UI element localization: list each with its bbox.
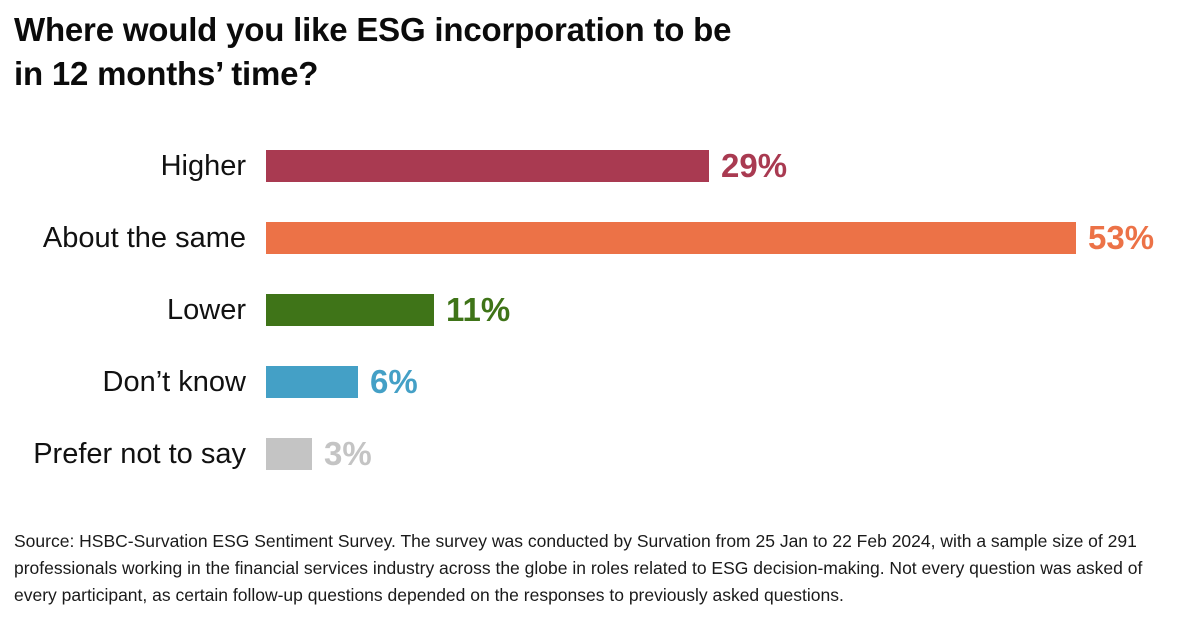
bar-row: Lower11% [0, 287, 1200, 333]
bar-fill [266, 150, 709, 182]
bar-row: About the same53% [0, 215, 1200, 261]
bar-fill [266, 366, 358, 398]
bar-row: Prefer not to say3% [0, 431, 1200, 477]
source-footnote: Source: HSBC-Survation ESG Sentiment Sur… [14, 528, 1174, 609]
bar-row: Don’t know6% [0, 359, 1200, 405]
bar-track: 29% [266, 150, 787, 182]
bar-value-label: 3% [324, 438, 372, 470]
bar-value-label: 53% [1088, 222, 1154, 254]
page-title-line-1: Where would you like ESG incorporation t… [14, 8, 1014, 52]
bar-category-label: Prefer not to say [0, 437, 246, 471]
bar-category-label: Don’t know [0, 365, 246, 399]
bar-fill [266, 222, 1076, 254]
bar-fill [266, 294, 434, 326]
bar-fill [266, 438, 312, 470]
bar-value-label: 29% [721, 150, 787, 182]
bar-track: 53% [266, 222, 1154, 254]
page-title: Where would you like ESG incorporation t… [14, 8, 1014, 96]
bar-value-label: 6% [370, 366, 418, 398]
bar-track: 3% [266, 438, 372, 470]
bar-track: 11% [266, 294, 510, 326]
bar-track: 6% [266, 366, 418, 398]
chart-page: Where would you like ESG incorporation t… [0, 0, 1200, 630]
bar-value-label: 11% [446, 294, 510, 326]
bar-row: Higher29% [0, 143, 1200, 189]
bar-category-label: About the same [0, 221, 246, 255]
bar-chart: Higher29%About the same53%Lower11%Don’t … [0, 128, 1200, 488]
page-title-line-2: in 12 months’ time? [14, 52, 1014, 96]
bar-category-label: Lower [0, 293, 246, 327]
bar-category-label: Higher [0, 149, 246, 183]
